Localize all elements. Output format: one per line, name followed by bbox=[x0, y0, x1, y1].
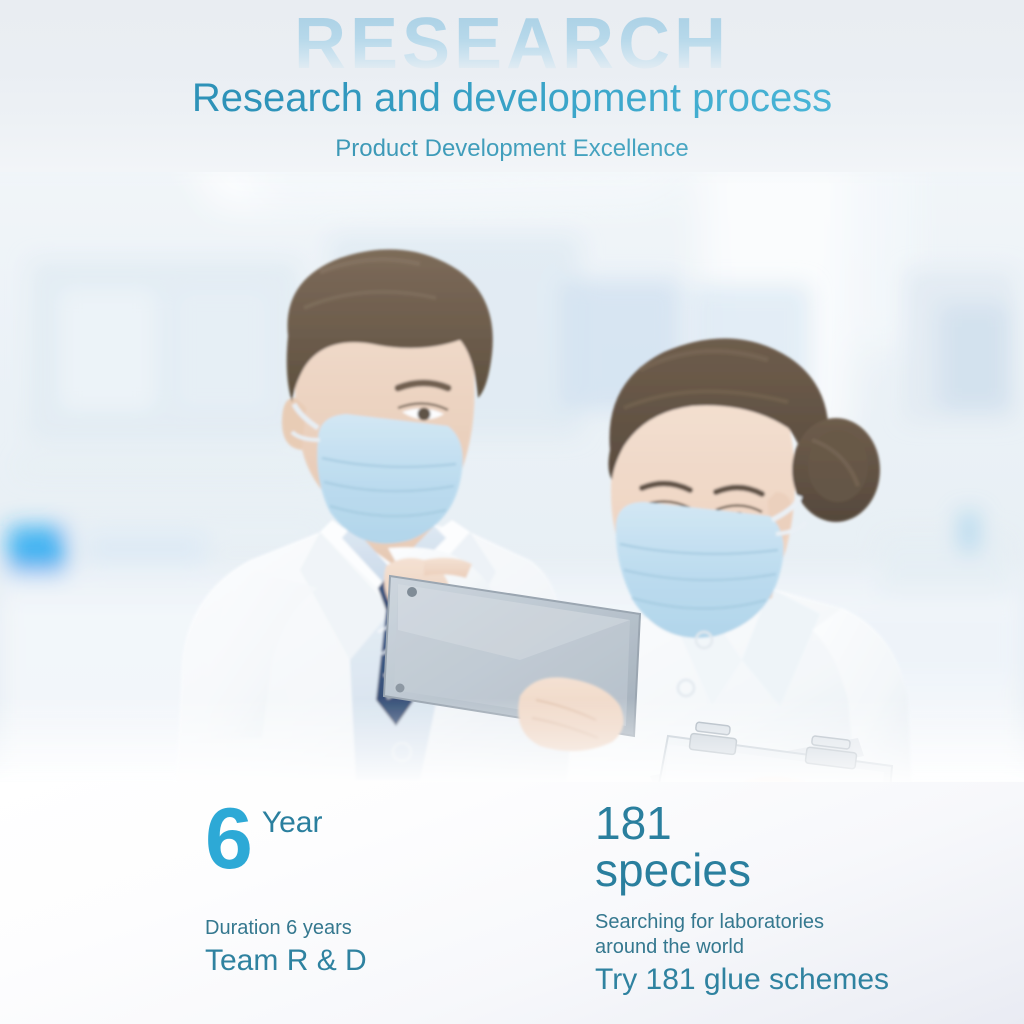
stat-species-text: Searching for laboratories around the wo… bbox=[595, 910, 1005, 999]
stat-species-unit: species bbox=[595, 847, 995, 894]
stat-duration: 6 Year bbox=[205, 800, 585, 892]
stat-species-caption-line1: Searching for laboratories bbox=[595, 910, 1005, 935]
page-subtitle: Product Development Excellence bbox=[0, 137, 1024, 161]
stat-species-caption-line2: around the world bbox=[595, 935, 1005, 960]
stat-species-value: 181 bbox=[595, 800, 995, 847]
stat-duration-unit: Year bbox=[262, 800, 323, 838]
stat-species-highlight: Try 181 glue schemes bbox=[595, 960, 1005, 999]
page-title: Research and development process bbox=[0, 78, 1024, 118]
stat-species: 181 species bbox=[595, 800, 995, 894]
stat-duration-headline: 6 Year bbox=[205, 800, 585, 892]
hero-photo bbox=[0, 140, 1024, 788]
poster-root: RESEARCH Research and development proces… bbox=[0, 0, 1024, 1024]
lab-scene-illustration bbox=[0, 140, 1024, 788]
header: RESEARCH Research and development proces… bbox=[0, 0, 1024, 172]
watermark-research: RESEARCH bbox=[0, 8, 1024, 80]
stat-duration-highlight: Team R & D bbox=[205, 941, 595, 980]
stat-duration-caption: Duration 6 years bbox=[205, 916, 595, 941]
stat-species-headline: 181 species bbox=[595, 800, 995, 894]
stat-duration-text: Duration 6 years Team R & D bbox=[205, 916, 595, 980]
stat-duration-value: 6 bbox=[205, 800, 252, 879]
stats-panel: 6 Year Duration 6 years Team R & D 181 s… bbox=[0, 782, 1024, 1024]
